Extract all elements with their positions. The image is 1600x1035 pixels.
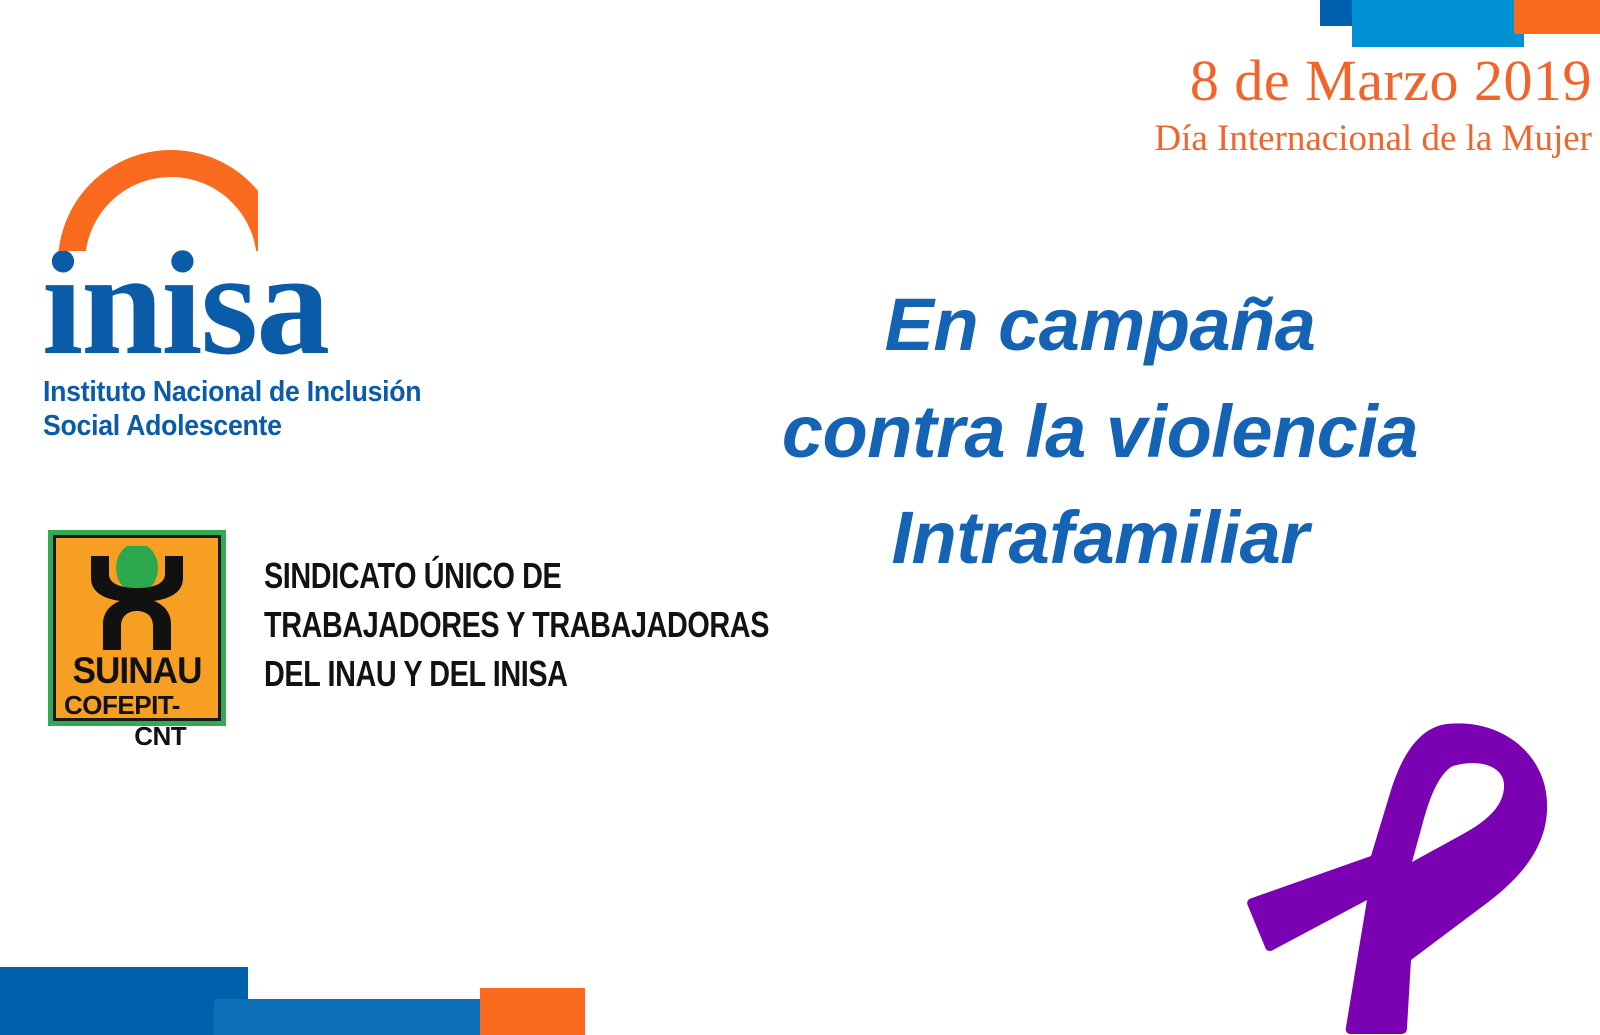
purple-ribbon-icon — [1215, 710, 1555, 1035]
decor-bar-top-right-orange — [1514, 0, 1600, 34]
header-date-block: 8 de Marzo 2019 Día Internacional de la … — [1154, 52, 1592, 162]
campaign-headline-line-3: Intrafamiliar — [700, 485, 1500, 592]
header-subtitle: Día Internacional de la Mujer — [1154, 116, 1592, 162]
inisa-wordmark: inisa — [42, 247, 480, 362]
inisa-arc-icon — [58, 150, 258, 251]
campaign-headline-line-2: contra la violencia — [700, 379, 1500, 486]
suinau-affiliation-pitcnt: PIT-CNT — [134, 690, 210, 752]
inisa-tagline-line-2: Social Adolescente — [43, 410, 445, 444]
suinau-affiliations: COFE PIT-CNT — [64, 690, 210, 752]
inisa-logo: inisa Instituto Nacional de Inclusión So… — [40, 150, 480, 444]
suinau-name: SUINAU — [60, 650, 214, 692]
suinau-person-icon — [77, 546, 197, 659]
union-name-line-3: DEL INAU Y DEL INISA — [264, 650, 769, 699]
decor-bar-bottom-left-mid-blue — [214, 999, 482, 1035]
campaign-headline-line-1: En campaña — [700, 272, 1500, 379]
union-name-line-2: TRABAJADORES Y TRABAJADORAS — [264, 601, 769, 650]
header-date: 8 de Marzo 2019 — [1154, 52, 1592, 110]
suinau-badge: SUINAU COFE PIT-CNT — [48, 530, 226, 726]
suinau-affiliation-cofe: COFE — [64, 690, 134, 752]
inisa-tagline: Instituto Nacional de Inclusión Social A… — [43, 376, 480, 444]
decor-bar-bottom-left-dark-blue — [0, 967, 248, 1035]
inisa-tagline-line-1: Instituto Nacional de Inclusión — [43, 376, 445, 410]
decor-bar-bottom-left-orange — [480, 988, 585, 1035]
campaign-headline: En campaña contra la violencia Intrafami… — [700, 272, 1500, 592]
decor-bar-top-right-light-blue — [1352, 0, 1524, 47]
union-name-line-1: SINDICATO ÚNICO DE — [264, 552, 769, 601]
poster-canvas: 8 de Marzo 2019 Día Internacional de la … — [0, 0, 1600, 1035]
